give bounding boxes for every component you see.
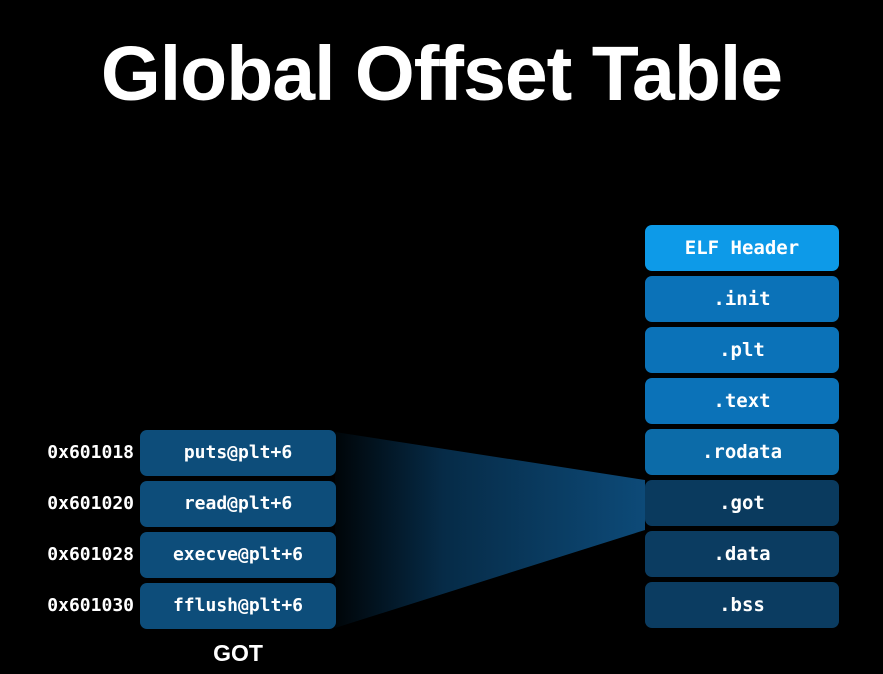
elf-section-box[interactable]: .init: [645, 276, 839, 322]
elf-section-box[interactable]: .got: [645, 480, 839, 526]
elf-section-box[interactable]: .text: [645, 378, 839, 424]
elf-section-box[interactable]: ELF Header: [645, 225, 839, 271]
got-table-label: GOT: [140, 640, 336, 667]
got-entry-address: 0x601020: [47, 481, 134, 527]
got-entry-box[interactable]: execve@plt+6: [140, 532, 336, 578]
elf-section-box[interactable]: .data: [645, 531, 839, 577]
got-entry-box[interactable]: read@plt+6: [140, 481, 336, 527]
got-table: 0x601018puts@plt+60x601020read@plt+60x60…: [140, 430, 336, 634]
got-entry-row: 0x601018puts@plt+6: [140, 430, 336, 476]
elf-section-list: ELF Header.init.plt.text.rodata.got.data…: [645, 225, 839, 633]
slide-canvas: Global Offset Table 0x601018puts@plt+60x…: [0, 0, 883, 674]
got-entry-address: 0x601028: [47, 532, 134, 578]
got-entry-box[interactable]: fflush@plt+6: [140, 583, 336, 629]
got-entry-row: 0x601030fflush@plt+6: [140, 583, 336, 629]
connector-wedge-shape: [335, 432, 645, 628]
elf-section-box[interactable]: .bss: [645, 582, 839, 628]
got-entry-address: 0x601030: [47, 583, 134, 629]
got-entry-row: 0x601028execve@plt+6: [140, 532, 336, 578]
got-entry-row: 0x601020read@plt+6: [140, 481, 336, 527]
got-to-section-connector: [335, 430, 645, 630]
elf-section-box[interactable]: .rodata: [645, 429, 839, 475]
elf-section-box[interactable]: .plt: [645, 327, 839, 373]
got-entry-address: 0x601018: [47, 430, 134, 476]
page-title: Global Offset Table: [0, 26, 883, 122]
got-entry-box[interactable]: puts@plt+6: [140, 430, 336, 476]
connector-wedge-svg: [335, 430, 645, 630]
